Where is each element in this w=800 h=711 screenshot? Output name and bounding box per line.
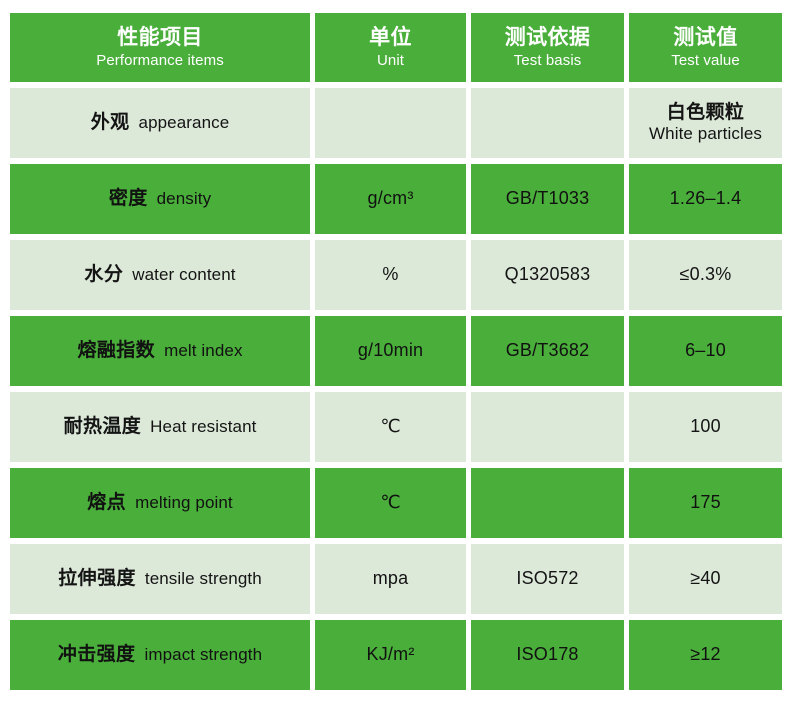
cell-performance-item: 拉伸强度 tensile strength [10, 544, 310, 614]
table-header-row: 性能项目 Performance items 单位 Unit 测试依据 Test… [10, 13, 782, 82]
cell-performance-item: 熔点 melting point [10, 468, 310, 538]
column-header-performance-items: 性能项目 Performance items [10, 13, 310, 82]
cell-performance-item: 水分 water content [10, 240, 310, 310]
test-value-en: White particles [649, 124, 762, 145]
column-header-unit-en: Unit [377, 52, 404, 70]
item-name-en: tensile strength [145, 569, 262, 590]
item-name-cn: 熔融指数 [77, 339, 155, 362]
unit-value: KJ/m² [367, 644, 415, 666]
item-name-en: Heat resistant [150, 417, 256, 438]
cell-test-basis: ISO178 [471, 620, 624, 690]
unit-value: g/10min [358, 340, 423, 362]
column-header-performance-items-en: Performance items [96, 52, 224, 70]
cell-test-value: ≥12 [629, 620, 782, 690]
cell-test-value: ≥40 [629, 544, 782, 614]
cell-unit: ℃ [315, 392, 466, 462]
cell-performance-item: 外观 appearance [10, 88, 310, 158]
cell-unit: g/cm³ [315, 164, 466, 234]
test-basis-value: GB/T1033 [506, 188, 590, 210]
test-value: 6–10 [685, 340, 726, 362]
test-basis-value: GB/T3682 [506, 340, 590, 362]
cell-test-basis [471, 468, 624, 538]
column-header-unit: 单位 Unit [315, 13, 466, 82]
unit-value: % [382, 264, 398, 286]
cell-test-basis: GB/T3682 [471, 316, 624, 386]
item-name-cn: 外观 [91, 111, 130, 134]
item-name-en: appearance [139, 113, 230, 134]
cell-test-value: 1.26–1.4 [629, 164, 782, 234]
cell-unit: KJ/m² [315, 620, 466, 690]
test-value: 100 [690, 416, 721, 438]
column-header-unit-cn: 单位 [369, 25, 412, 51]
cell-unit: ℃ [315, 468, 466, 538]
cell-test-value: 6–10 [629, 316, 782, 386]
cell-test-basis: Q1320583 [471, 240, 624, 310]
cell-test-basis [471, 392, 624, 462]
item-name-en: impact strength [144, 645, 262, 666]
column-header-test-basis: 测试依据 Test basis [471, 13, 624, 82]
cell-test-basis: ISO572 [471, 544, 624, 614]
column-header-test-value-en: Test value [671, 52, 740, 70]
test-value: 1.26–1.4 [670, 188, 742, 210]
item-name-cn: 密度 [109, 187, 148, 210]
table-row: 耐热温度 Heat resistant ℃ 100 [10, 392, 782, 462]
test-value: ≤0.3% [680, 264, 732, 286]
cell-unit: g/10min [315, 316, 466, 386]
column-header-test-basis-cn: 测试依据 [505, 25, 591, 51]
cell-performance-item: 密度 density [10, 164, 310, 234]
table-row: 熔融指数 melt index g/10min GB/T3682 6–10 [10, 316, 782, 386]
specification-table: 性能项目 Performance items 单位 Unit 测试依据 Test… [0, 0, 800, 711]
table-row: 水分 water content % Q1320583 ≤0.3% [10, 240, 782, 310]
test-value: ≥40 [690, 568, 721, 590]
item-name-cn: 耐热温度 [64, 415, 142, 438]
test-basis-value: ISO178 [516, 644, 578, 666]
cell-unit: mpa [315, 544, 466, 614]
item-name-en: density [157, 189, 212, 210]
item-name-cn: 水分 [84, 263, 123, 286]
cell-test-basis: GB/T1033 [471, 164, 624, 234]
cell-performance-item: 熔融指数 melt index [10, 316, 310, 386]
item-name-cn: 熔点 [87, 491, 126, 514]
unit-value: g/cm³ [368, 188, 414, 210]
test-value: 175 [690, 492, 721, 514]
cell-unit: % [315, 240, 466, 310]
item-name-en: melt index [164, 341, 242, 362]
unit-value: mpa [373, 568, 409, 590]
cell-performance-item: 冲击强度 impact strength [10, 620, 310, 690]
cell-performance-item: 耐热温度 Heat resistant [10, 392, 310, 462]
cell-test-value: ≤0.3% [629, 240, 782, 310]
cell-test-value: 100 [629, 392, 782, 462]
table-row: 冲击强度 impact strength KJ/m² ISO178 ≥12 [10, 620, 782, 690]
item-name-en: water content [132, 265, 235, 286]
cell-test-basis [471, 88, 624, 158]
column-header-test-value-cn: 测试值 [673, 25, 737, 51]
unit-value: ℃ [380, 416, 400, 438]
column-header-performance-items-cn: 性能项目 [117, 25, 203, 51]
cell-test-value: 175 [629, 468, 782, 538]
table-row: 密度 density g/cm³ GB/T1033 1.26–1.4 [10, 164, 782, 234]
table-row: 熔点 melting point ℃ 175 [10, 468, 782, 538]
test-basis-value: ISO572 [516, 568, 578, 590]
test-value-cn: 白色颗粒 [667, 101, 745, 124]
column-header-test-value: 测试值 Test value [629, 13, 782, 82]
unit-value: ℃ [380, 492, 400, 514]
table-row: 拉伸强度 tensile strength mpa ISO572 ≥40 [10, 544, 782, 614]
item-name-cn: 拉伸强度 [58, 567, 136, 590]
item-name-cn: 冲击强度 [58, 643, 136, 666]
test-value: ≥12 [690, 644, 721, 666]
cell-unit [315, 88, 466, 158]
table-row: 外观 appearance 白色颗粒 White particles [10, 88, 782, 158]
test-basis-value: Q1320583 [505, 264, 591, 286]
item-name-en: melting point [135, 493, 233, 514]
cell-test-value: 白色颗粒 White particles [629, 88, 782, 158]
column-header-test-basis-en: Test basis [514, 52, 582, 70]
